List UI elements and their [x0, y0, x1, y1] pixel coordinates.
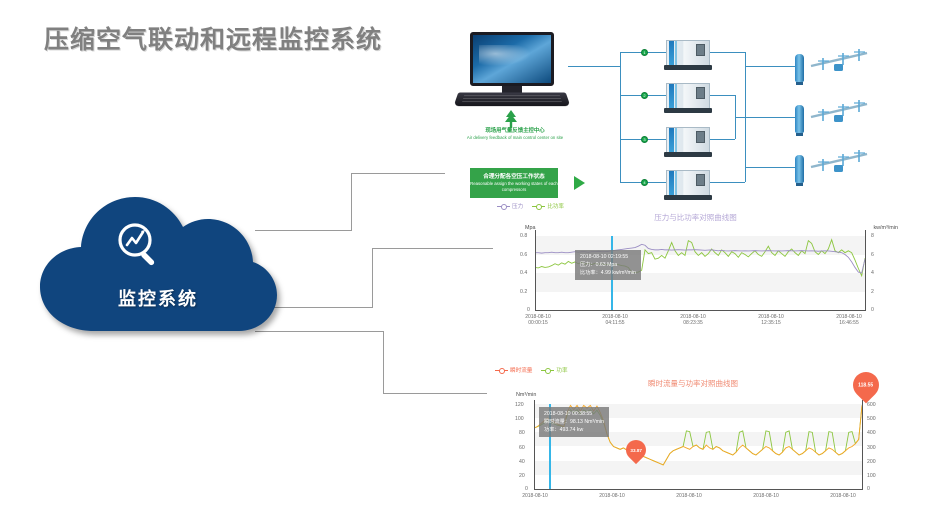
tree-icon	[503, 110, 519, 128]
chart2-legend-item-0[interactable]: 瞬时流量	[495, 366, 532, 374]
connector-segment	[351, 173, 352, 231]
tool-rack-3	[809, 145, 871, 181]
feedback-label-cn: 现场用气量反馈主控中心	[464, 128, 566, 135]
pipe-bus-left	[620, 52, 621, 182]
chart1-y2label: kw/m³/min	[873, 225, 898, 231]
chart1-legend-label-1: 比功率	[547, 202, 564, 210]
chart2-title: 瞬时流量与功率对照曲线图	[487, 378, 899, 389]
chart2-max-marker-label: 118.55	[858, 382, 873, 388]
legend-marker-icon	[532, 204, 545, 209]
chart2-tooltip-timestamp: 2018-08-10 00:38:55	[544, 410, 604, 418]
chart2-xtick-0: 2018-08-10	[507, 493, 563, 499]
connector-bottom	[255, 331, 500, 393]
feedback-label: 现场用气量反馈主控中心 Air delivery feedback of mai…	[464, 128, 566, 140]
compressor-4	[666, 170, 710, 200]
chart1-tooltip-row2: 比功率：4.99 kw/m³/min	[580, 269, 636, 277]
cloud-shape[interactable]	[36, 193, 280, 333]
pipe-collect-2	[710, 95, 735, 96]
chart2-tooltip-row1: 瞬时流量：98.13 Nm³/min	[544, 418, 604, 426]
connector-segment	[351, 173, 445, 174]
chart1-xtick-4-time: 16:46:55	[821, 320, 877, 326]
page-title: 压缩空气联动和远程监控系统	[44, 20, 382, 56]
chart2-tooltip: 2018-08-10 00:38:55 瞬时流量：98.13 Nm³/min 功…	[539, 407, 609, 437]
chart1-ytick-2: 0.4	[520, 270, 527, 276]
air-tank-2	[795, 105, 804, 133]
chart2-ytick-5: 20	[519, 473, 525, 479]
chart1-ytick-0: 0.8	[520, 233, 527, 239]
chart2-y2tick-5: 100	[867, 473, 876, 479]
chart2-xaxis	[534, 489, 863, 490]
chart1-title: 压力与比功率对照曲线图	[493, 212, 898, 223]
assign-status-en: Reasonable assign the working states of …	[470, 181, 558, 192]
connector-top	[255, 173, 445, 231]
chart1-xtick-1: 2018-08-10 04:11:55	[587, 314, 643, 326]
chart2-legend-label-0: 瞬时流量	[510, 366, 532, 374]
chart2-y2tick-0: 600	[867, 402, 876, 408]
chart2-yaxis	[534, 400, 535, 489]
chart1-tooltip: 2018-08-10 02:19:55 压力：0.63 Mpa 比功率：4.99…	[575, 250, 641, 280]
pressure-vs-specific-power-chart[interactable]: 压力 比功率 压力与比功率对照曲线图 Mpa kw/m³/min 0.8 0.6…	[493, 200, 898, 335]
chart1-xtick-2: 2018-08-10 08:23:35	[665, 314, 721, 326]
pipe-out-3	[745, 167, 795, 168]
chart2-ytick-2: 80	[519, 430, 525, 436]
chart2-ytick-0: 120	[515, 402, 524, 408]
node-dot-1: 1	[641, 49, 648, 56]
chart2-xtick-4-date: 2018-08-10	[815, 493, 871, 499]
chart2-ytick-6: 0	[525, 486, 528, 492]
air-tank-1	[795, 54, 804, 82]
chart2-tooltip-row2: 功率：493.74 kw	[544, 426, 604, 434]
tool-rack-1	[809, 44, 871, 80]
chart1-y2tick-3: 2	[871, 289, 874, 295]
chart1-yaxis	[535, 230, 536, 310]
connector-middle	[265, 248, 495, 308]
chart1-y2tick-2: 4	[871, 270, 874, 276]
pipe-collect-3	[710, 139, 735, 140]
chart2-xtick-2: 2018-08-10	[661, 493, 717, 499]
tool-rack-2	[809, 95, 871, 131]
chart1-legend-label-0: 压力	[512, 202, 523, 210]
chart2-xtick-2-date: 2018-08-10	[661, 493, 717, 499]
pipe-out-1	[745, 66, 795, 67]
chart2-y2axis	[862, 400, 863, 489]
chart1-y2tick-1: 6	[871, 252, 874, 258]
chart2-ytick-1: 100	[515, 416, 524, 422]
chart2-y2tick-1: 500	[867, 416, 876, 422]
chart1-ytick-4: 0	[527, 307, 530, 313]
chart2-xtick-3: 2018-08-10	[738, 493, 794, 499]
pipe-collect-4	[710, 182, 745, 183]
chart2-y2tick-2: 400	[867, 430, 876, 436]
legend-marker-icon	[497, 204, 510, 209]
chart1-ytick-3: 0.2	[520, 289, 527, 295]
chart1-y2axis	[865, 230, 866, 310]
pipe-collect-1	[710, 52, 745, 53]
keyboard-icon	[454, 92, 571, 106]
connector-segment	[383, 393, 500, 394]
chart1-ytick-1: 0.6	[520, 252, 527, 258]
connector-segment	[372, 248, 373, 308]
chart1-y2tick-4: 0	[871, 307, 874, 313]
chart1-tooltip-row1: 压力：0.63 Mpa	[580, 261, 636, 269]
node-dot-3: 3	[641, 136, 648, 143]
chart2-y2tick-6: 0	[867, 486, 870, 492]
chart2-xtick-1: 2018-08-10	[584, 493, 640, 499]
connector-segment	[383, 331, 384, 393]
node-dot-4: 4	[641, 179, 648, 186]
chart2-ytick-3: 60	[519, 445, 525, 451]
legend-marker-icon	[541, 368, 554, 373]
chart1-xtick-0-time: 00:00:15	[510, 320, 566, 326]
chart1-legend[interactable]: 压力 比功率	[497, 202, 564, 210]
chart1-xtick-4: 2018-08-10 16:46:55	[821, 314, 877, 326]
chart2-xtick-4: 2018-08-10	[815, 493, 871, 499]
chart1-ylabel: Mpa	[525, 225, 536, 231]
chart1-legend-item-1[interactable]: 比功率	[532, 202, 564, 210]
chart2-xtick-1-date: 2018-08-10	[584, 493, 640, 499]
chart1-xtick-2-time: 08:23:35	[665, 320, 721, 326]
chart1-xaxis	[535, 310, 866, 311]
assign-status-cn: 合理分配各空压工作状态	[483, 174, 545, 181]
chart2-y2tick-4: 200	[867, 459, 876, 465]
legend-marker-icon	[495, 368, 508, 373]
flow-vs-power-chart[interactable]: 瞬时流量 功率 瞬时流量与功率对照曲线图 Nm³/min 120 100 80 …	[487, 364, 899, 529]
compressor-1	[666, 40, 710, 70]
chart2-legend[interactable]: 瞬时流量 功率	[495, 366, 568, 374]
compressor-3	[666, 127, 710, 157]
connector-segment	[372, 248, 495, 249]
desktop-monitor-icon	[470, 32, 554, 86]
compressor-2	[666, 83, 710, 113]
chart2-min-marker-label: 33.87	[630, 448, 642, 453]
chart2-ytick-4: 40	[519, 459, 525, 465]
chart1-tooltip-timestamp: 2018-08-10 02:19:55	[580, 253, 636, 261]
chart1-y2tick-0: 8	[871, 233, 874, 239]
chart1-xtick-3-time: 12:35:15	[743, 320, 799, 326]
feedback-label-en: Air delivery feedback of main control ce…	[464, 135, 566, 140]
chart1-legend-item-0[interactable]: 压力	[497, 202, 523, 210]
chart1-xtick-3: 2018-08-10 12:35:15	[743, 314, 799, 326]
air-tank-3	[795, 155, 804, 183]
chart2-xtick-0-date: 2018-08-10	[507, 493, 563, 499]
pipe-out-2	[735, 117, 795, 118]
node-dot-2: 2	[641, 92, 648, 99]
chart1-xtick-1-time: 04:11:55	[587, 320, 643, 326]
pipe-main	[568, 66, 620, 67]
chart2-ylabel: Nm³/min	[516, 392, 536, 398]
chart2-legend-label-1: 功率	[556, 366, 567, 374]
assign-status-box: 合理分配各空压工作状态 Reasonable assign the workin…	[470, 168, 558, 198]
chart1-xtick-0: 2018-08-10 00:00:15	[510, 314, 566, 326]
chart2-xtick-3-date: 2018-08-10	[738, 493, 794, 499]
connector-segment	[265, 307, 372, 308]
chart2-legend-item-1[interactable]: 功率	[541, 366, 567, 374]
right-arrow-icon	[574, 176, 585, 190]
chart2-y2tick-3: 300	[867, 445, 876, 451]
system-schematic: 现场用气量反馈主控中心 Air delivery feedback of mai…	[444, 22, 942, 208]
chart2-max-marker-pin[interactable]: 118.55	[848, 367, 885, 404]
